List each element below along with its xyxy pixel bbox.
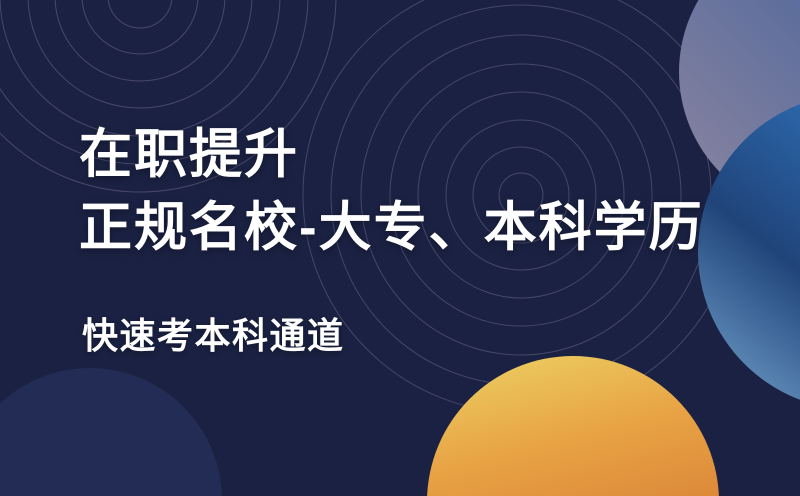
subheadline: 快速考本科通道	[82, 313, 345, 359]
headline-line-2: 正规名校-大专、本科学历	[79, 197, 704, 259]
banner-copy: 在职提升 正规名校-大专、本科学历 快速考本科通道	[0, 0, 800, 496]
promo-banner: 在职提升 正规名校-大专、本科学历 快速考本科通道	[0, 0, 800, 496]
headline-line-1: 在职提升	[79, 124, 299, 186]
